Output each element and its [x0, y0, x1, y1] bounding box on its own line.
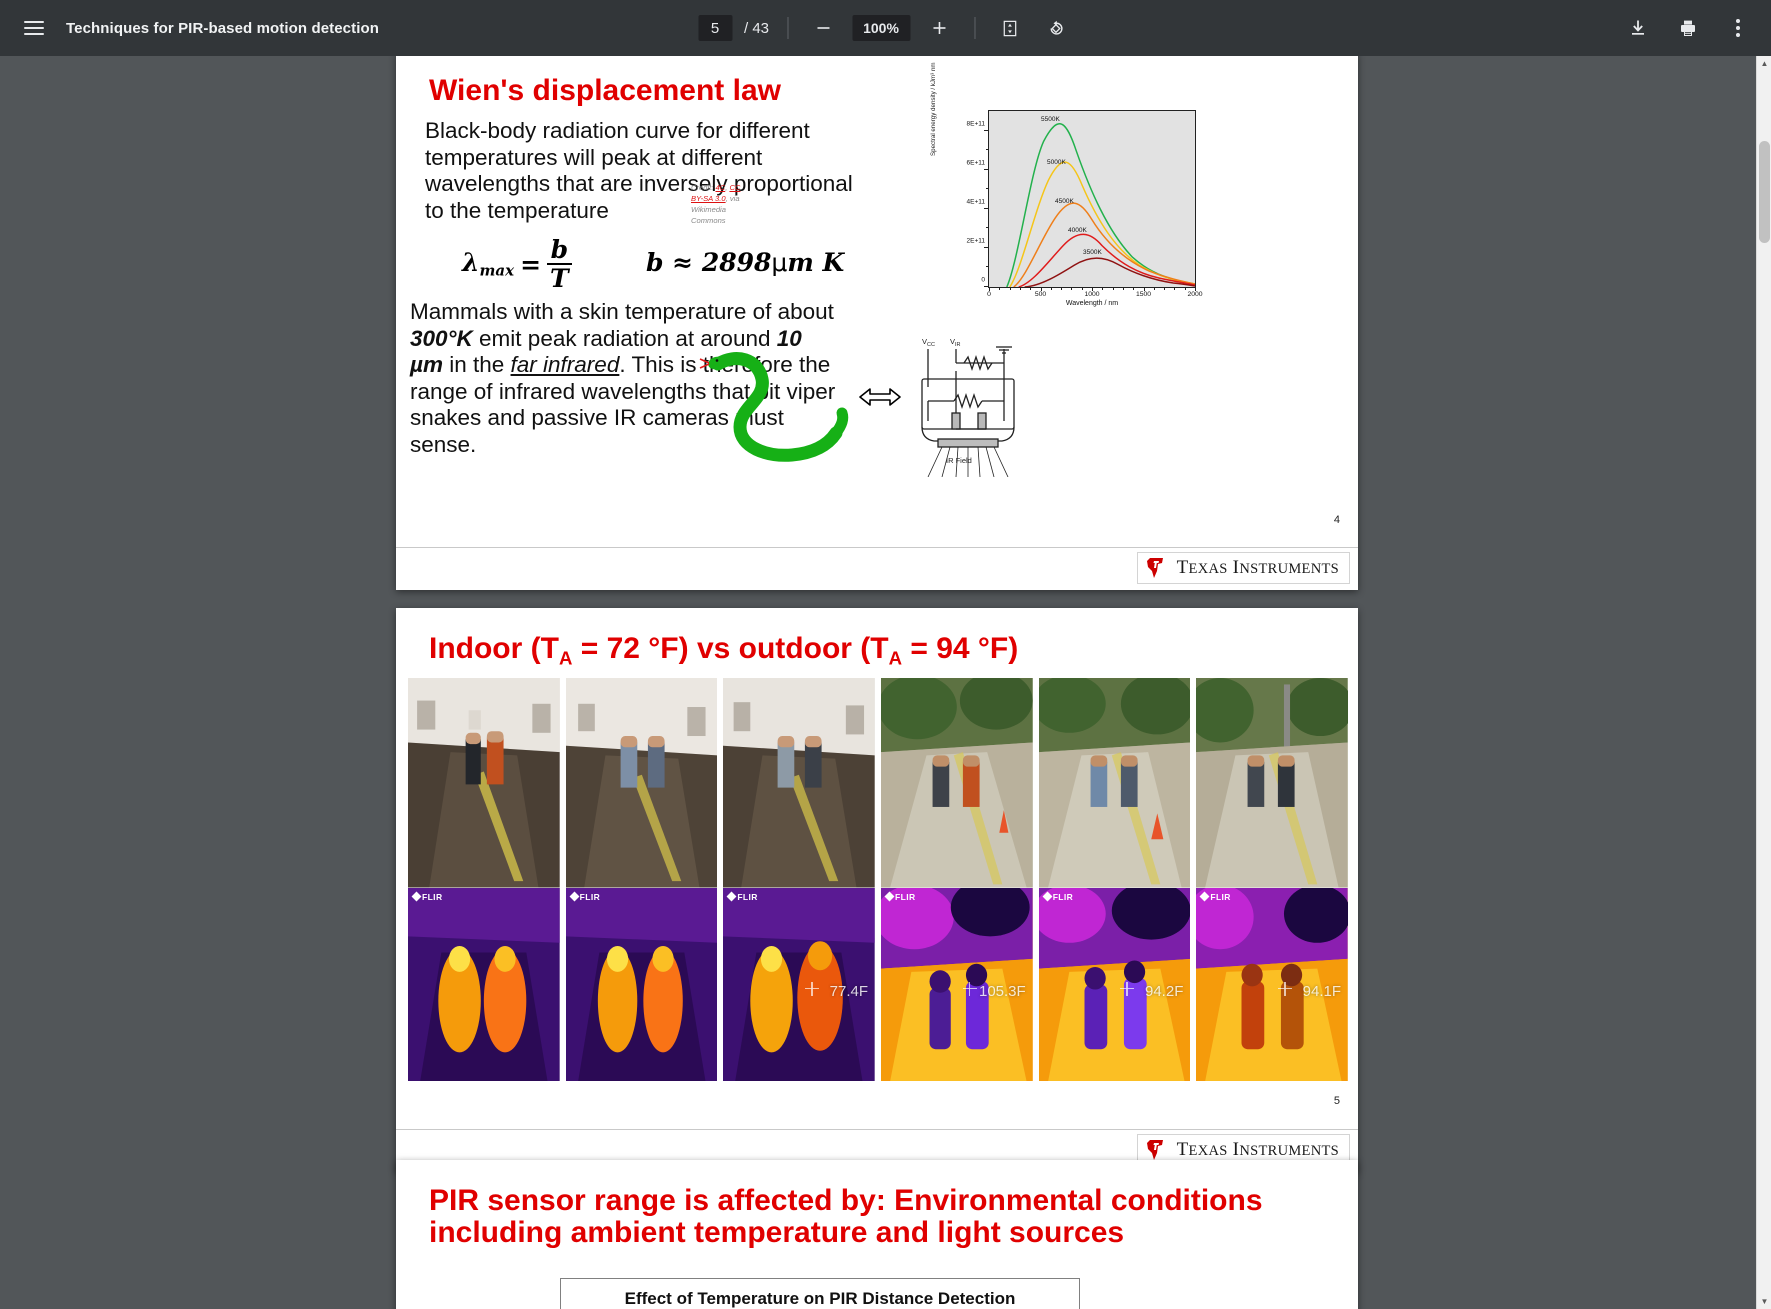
scroll-thumb[interactable]	[1759, 141, 1770, 243]
paragraph2-part3: in the	[443, 352, 511, 377]
title-subscript-a: A	[559, 647, 572, 668]
curve-label-4000K: 4000K	[1068, 227, 1087, 234]
temperature-reading-6: 94.1F	[1303, 983, 1341, 1000]
fraction-denominator: T	[547, 263, 572, 291]
paragraph2-part1: Mammals with a skin temperature of about	[410, 299, 834, 324]
x-tick-2000: 2000	[1187, 291, 1202, 298]
temperature-reading-4: 105.3F	[979, 983, 1026, 1000]
download-icon[interactable]	[1621, 11, 1655, 45]
fit-page-icon[interactable]	[993, 11, 1027, 45]
toolbar-left-group: Techniques for PIR-based motion detectio…	[0, 10, 379, 46]
x-tick-500: 500	[1035, 291, 1046, 298]
temp-crosshair-4	[963, 982, 977, 996]
credit-link-4c[interactable]: 4C	[716, 183, 726, 192]
toolbar-divider-2	[974, 17, 975, 39]
photo-column-3[interactable]: FLIR 77.4F	[723, 678, 875, 1081]
temp-crosshair-6	[1278, 982, 1292, 996]
texas-instruments-logo: TEXAS INSTRUMENTS	[1137, 552, 1350, 584]
y-tick-2e11: 2E+11	[967, 237, 986, 244]
x-tick-1000: 1000	[1084, 291, 1099, 298]
temp-crosshair-3	[805, 982, 819, 996]
slide-4-paragraph-1: Black-body radiation curve for different…	[425, 118, 855, 224]
texas-instruments-logo-icon	[1144, 1139, 1168, 1161]
title-part-c: = 94 °F)	[902, 632, 1018, 665]
flir-watermark-5: FLIR	[1044, 892, 1073, 902]
vir-label: VIR	[950, 337, 961, 348]
chart-curves	[989, 111, 1195, 287]
flir-watermark-3: FLIR	[728, 892, 757, 902]
pdf-page-6[interactable]: PIR sensor range is affected by: Environ…	[396, 1160, 1358, 1309]
kebab-menu-icon[interactable]	[1721, 11, 1755, 45]
flir-watermark-6: FLIR	[1201, 892, 1230, 902]
thermal-photo-indoor-1: FLIR	[408, 888, 560, 1081]
paragraph2-bold-300K: 300°K	[410, 326, 473, 351]
pdf-pages-container: Wien's displacement law Black-body radia…	[0, 56, 1756, 1309]
curve-5000K	[1010, 162, 1195, 287]
document-title: Techniques for PIR-based motion detectio…	[66, 20, 379, 37]
flir-watermark-2: FLIR	[571, 892, 600, 902]
b-constant-value: b ≈ 2898	[646, 248, 771, 277]
photo-column-1[interactable]: FLIR	[408, 678, 560, 1081]
flir-watermark-4: FLIR	[886, 892, 915, 902]
temp-crosshair-5	[1120, 982, 1134, 996]
curve-label-3500K: 3500K	[1083, 249, 1102, 256]
slide-6-title: PIR sensor range is affected by: Environ…	[429, 1185, 1329, 1250]
curve-4000K	[1019, 234, 1195, 287]
print-icon[interactable]	[1671, 11, 1705, 45]
zoom-out-button[interactable]	[806, 11, 840, 45]
blackbody-radiation-chart: Spectral energy density / kJm³ nm 0 2E+1…	[936, 104, 1226, 319]
flir-watermark-1: FLIR	[413, 892, 442, 902]
curve-5500K	[1007, 124, 1195, 287]
visible-photo-indoor-1	[408, 678, 560, 888]
curve-label-5000K: 5000K	[1047, 159, 1066, 166]
page-count-label: / 43	[744, 20, 769, 37]
texas-instruments-wordmark: TEXAS INSTRUMENTS	[1177, 1139, 1339, 1161]
slide-6-title-line-1: PIR sensor range is affected by: Environ…	[429, 1185, 1329, 1217]
photo-comparison-grid: FLIR	[408, 678, 1348, 1081]
vcc-label: VCC	[922, 337, 935, 348]
thermal-photo-indoor-2: FLIR	[566, 888, 718, 1081]
equals-sign: =	[520, 250, 541, 279]
pdf-page-4[interactable]: Wien's displacement law Black-body radia…	[396, 56, 1358, 590]
y-tick-6e11: 6E+11	[967, 159, 986, 166]
wien-formula-lambda: λmax = b T	[462, 237, 572, 291]
slide-5-page-number: 5	[1334, 1095, 1340, 1107]
photo-column-6[interactable]: FLIR 94.1F	[1196, 678, 1348, 1081]
wien-formula-constant: b ≈ 2898μm K	[646, 248, 844, 277]
zoom-level-input[interactable]: 100%	[852, 15, 910, 41]
pir-sensor-schematic: VCC VIR IR Field	[908, 327, 1028, 477]
visible-photo-outdoor-3	[1196, 678, 1348, 888]
zoom-in-button[interactable]	[922, 11, 956, 45]
scroll-down-arrow-icon[interactable]: ▼	[1757, 1294, 1771, 1309]
credit-label: Credit:	[691, 183, 713, 192]
pir-distance-chart: Effect of Temperature on PIR Distance De…	[560, 1278, 1080, 1309]
b-constant-units: m K	[787, 248, 844, 277]
slide-4-title: Wien's displacement law	[429, 75, 781, 107]
hamburger-menu-icon[interactable]	[16, 10, 52, 46]
chart-y-axis-label: Spectral energy density / kJm³ nm	[930, 62, 937, 156]
thermal-photo-outdoor-3: FLIR 94.1F	[1196, 888, 1348, 1081]
rotate-icon[interactable]	[1039, 11, 1073, 45]
thermal-photo-outdoor-2: FLIR 94.2F	[1039, 888, 1191, 1081]
slide-5-title: Indoor (TA = 72 °F) vs outdoor (TA = 94 …	[429, 633, 1018, 668]
curve-label-4500K: 4500K	[1055, 198, 1074, 205]
ir-field-label: IR Field	[946, 456, 972, 465]
x-tick-1500: 1500	[1136, 291, 1151, 298]
title-part-a: Indoor (T	[429, 632, 559, 665]
toolbar-divider-1	[787, 17, 788, 39]
pir-distance-chart-title: Effect of Temperature on PIR Distance De…	[561, 1279, 1079, 1309]
pdf-page-5[interactable]: Indoor (TA = 72 °F) vs outdoor (TA = 94 …	[396, 608, 1358, 1172]
pdf-viewer-toolbar: Techniques for PIR-based motion detectio…	[0, 0, 1771, 56]
temperature-reading-5: 94.2F	[1145, 983, 1183, 1000]
toolbar-center-group: 5 / 43 100%	[698, 0, 1073, 56]
page-number-input[interactable]: 5	[698, 15, 732, 41]
pdf-scroll-viewport[interactable]: Wien's displacement law Black-body radia…	[0, 56, 1771, 1309]
title-subscript-b: A	[889, 647, 902, 668]
thermal-photo-indoor-3: FLIR 77.4F	[723, 888, 875, 1081]
x-tick-0: 0	[987, 291, 991, 298]
visible-photo-indoor-3	[723, 678, 875, 888]
thermal-photo-outdoor-1: FLIR 105.3F	[881, 888, 1033, 1081]
texas-instruments-logo-icon	[1144, 557, 1168, 579]
mu-symbol: μ	[771, 248, 787, 277]
y-tick-0: 0	[981, 277, 985, 284]
scroll-up-arrow-icon[interactable]: ▲	[1757, 56, 1771, 71]
visible-photo-outdoor-1	[881, 678, 1033, 888]
texas-instruments-wordmark: TEXAS INSTRUMENTS	[1177, 557, 1339, 579]
toolbar-right-group	[1621, 11, 1755, 45]
slide-4-footer: TEXAS INSTRUMENTS	[396, 547, 1358, 590]
paragraph2-underline-far-infrared: far infrared	[511, 352, 620, 377]
y-tick-4e11: 4E+11	[967, 198, 986, 205]
y-tick-8e11: 8E+11	[967, 120, 986, 127]
curve-3500K	[1025, 258, 1195, 287]
temperature-reading-3: 77.4F	[830, 983, 868, 1000]
vertical-scrollbar[interactable]: ▲ ▼	[1756, 56, 1771, 1309]
lambda-subscript: max	[480, 262, 515, 280]
image-credit: Credit: 4C, CC BY-SA 3.0, via Wikimedia …	[691, 182, 747, 226]
visible-photo-indoor-2	[566, 678, 718, 888]
curve-label-5500K: 5500K	[1041, 116, 1060, 123]
title-part-b: = 72 °F) vs outdoor (T	[572, 632, 888, 665]
slide-6-title-line-2: including ambient temperature and light …	[429, 1217, 1329, 1249]
chart-plot-area: 0 2E+11 4E+11 6E+11 8E+11 0 500 1000 150…	[988, 110, 1196, 288]
left-right-arrow-icon	[858, 382, 902, 416]
visible-photo-outdoor-2	[1039, 678, 1191, 888]
slide-4-page-number: 4	[1334, 514, 1340, 526]
photo-column-5[interactable]: FLIR 94.2F	[1039, 678, 1191, 1081]
b-over-T-fraction: b T	[547, 237, 572, 291]
photo-column-4[interactable]: FLIR 105.3F	[881, 678, 1033, 1081]
lambda-symbol: λ	[462, 248, 480, 277]
photo-column-2[interactable]: FLIR	[566, 678, 718, 1081]
green-snake-illustration	[696, 337, 866, 477]
fraction-numerator: b	[548, 237, 571, 263]
chart-x-axis-label: Wavelength / nm	[988, 300, 1196, 307]
